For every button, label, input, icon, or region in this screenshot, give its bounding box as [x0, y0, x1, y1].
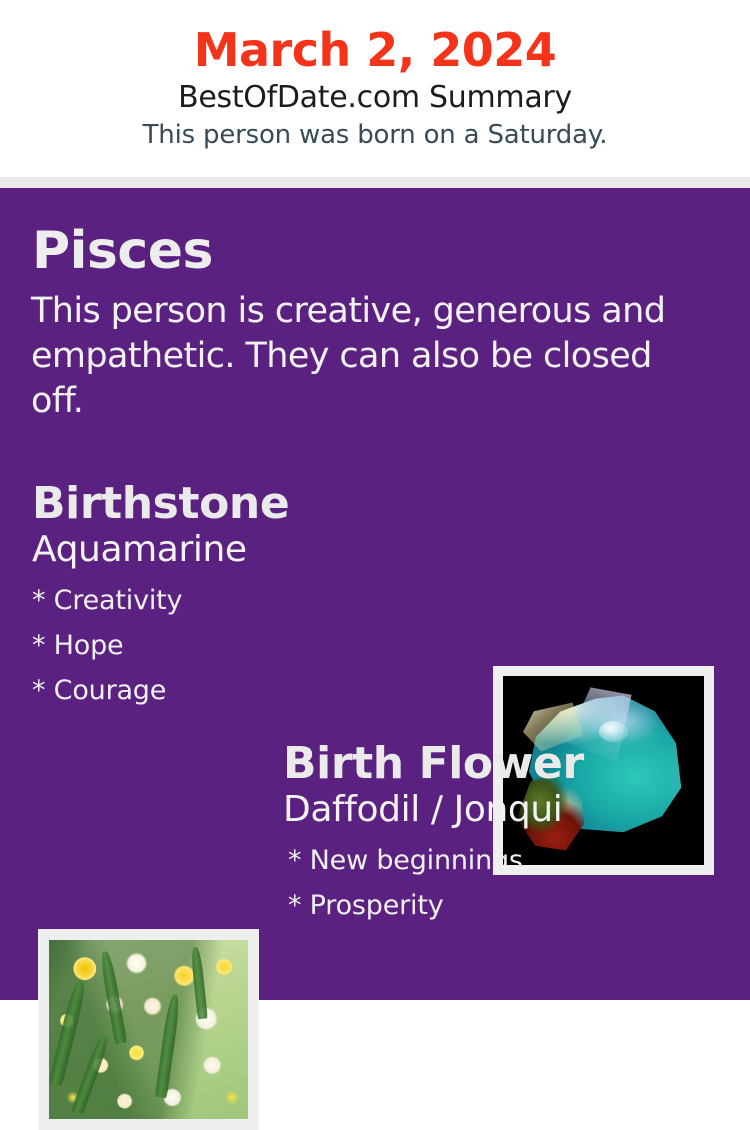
birth-flower-trait-list: * New beginnings * Prosperity	[283, 838, 733, 928]
leaf-shape	[49, 979, 88, 1087]
leaf-shape	[99, 950, 127, 1044]
page-title-date: March 2, 2024	[0, 22, 750, 78]
summary-panel: Pisces This person is creative, generous…	[0, 188, 750, 1000]
leaf-shape	[191, 947, 208, 1019]
birth-flower-image-frame	[38, 929, 259, 1130]
birthstone-trait-list: * Creativity * Hope * Courage	[32, 578, 472, 713]
list-item: * Prosperity	[283, 883, 733, 928]
birthstone-name: Aquamarine	[32, 528, 472, 572]
leaf-shape	[71, 1034, 110, 1115]
zodiac-description: This person is creative, generous and em…	[31, 289, 711, 424]
list-item: * Creativity	[32, 578, 472, 623]
list-item: * New beginnings	[283, 838, 733, 883]
zodiac-sign-name: Pisces	[32, 221, 213, 281]
birthstone-heading: Birthstone	[32, 478, 472, 530]
list-item: * Courage	[32, 668, 472, 713]
birth-flower-name: Daffodil / Jonqui	[283, 788, 733, 832]
birth-flower-section: Birth Flower Daffodil / Jonqui * New beg…	[283, 738, 733, 928]
birthstone-section: Birthstone Aquamarine * Creativity * Hop…	[32, 478, 472, 713]
list-item: * Hope	[32, 623, 472, 668]
leaf-shape	[155, 993, 181, 1097]
birth-weekday-note: This person was born on a Saturday.	[0, 118, 750, 152]
site-summary-subtitle: BestOfDate.com Summary	[0, 78, 750, 118]
page-header: March 2, 2024 BestOfDate.com Summary Thi…	[0, 0, 750, 177]
birth-flower-image	[49, 940, 248, 1119]
birth-flower-heading: Birth Flower	[283, 738, 733, 790]
header-divider	[0, 177, 750, 188]
